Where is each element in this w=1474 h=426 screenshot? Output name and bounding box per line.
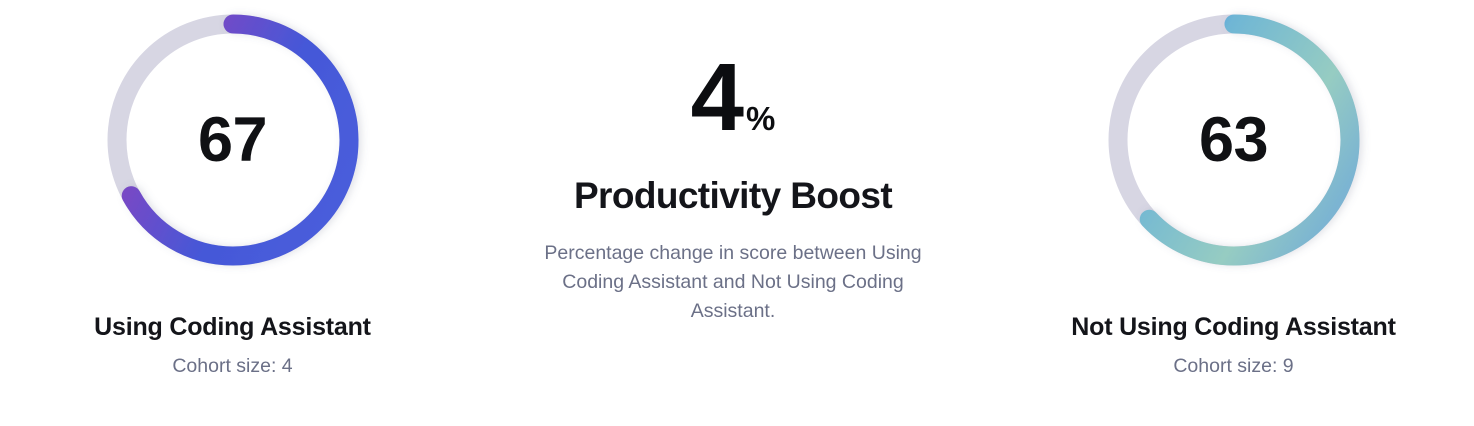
delta-description: Percentage change in score between Using… [533, 239, 933, 326]
delta-summary: 4 % Productivity Boost Percentage change… [498, 0, 968, 325]
gauge-cohort-size-left: Cohort size: 4 [172, 355, 292, 378]
gauge-card-using-coding-assistant: 67 Using Coding Assistant Cohort size: 4 [0, 0, 465, 378]
gauge-not-using-coding-assistant: 63 [1108, 14, 1360, 266]
gauge-label-using-coding-assistant: Using Coding Assistant [94, 313, 371, 342]
gauge-card-not-using-coding-assistant: 63 Not Using Coding Assistant Cohort siz… [1001, 0, 1466, 378]
productivity-comparison-panel: 67 Using Coding Assistant Cohort size: 4… [0, 0, 1474, 426]
delta-percent-symbol: % [746, 102, 775, 135]
delta-title: Productivity Boost [574, 176, 892, 217]
delta-value-row: 4 % [691, 52, 776, 143]
gauge-using-coding-assistant: 67 [107, 14, 359, 266]
delta-number: 4 [691, 52, 741, 143]
gauge-label-not-using-coding-assistant: Not Using Coding Assistant [1071, 313, 1395, 342]
gauge-value-left: 67 [107, 14, 359, 266]
gauge-value-right: 63 [1108, 14, 1360, 266]
gauge-cohort-size-right: Cohort size: 9 [1173, 355, 1293, 378]
